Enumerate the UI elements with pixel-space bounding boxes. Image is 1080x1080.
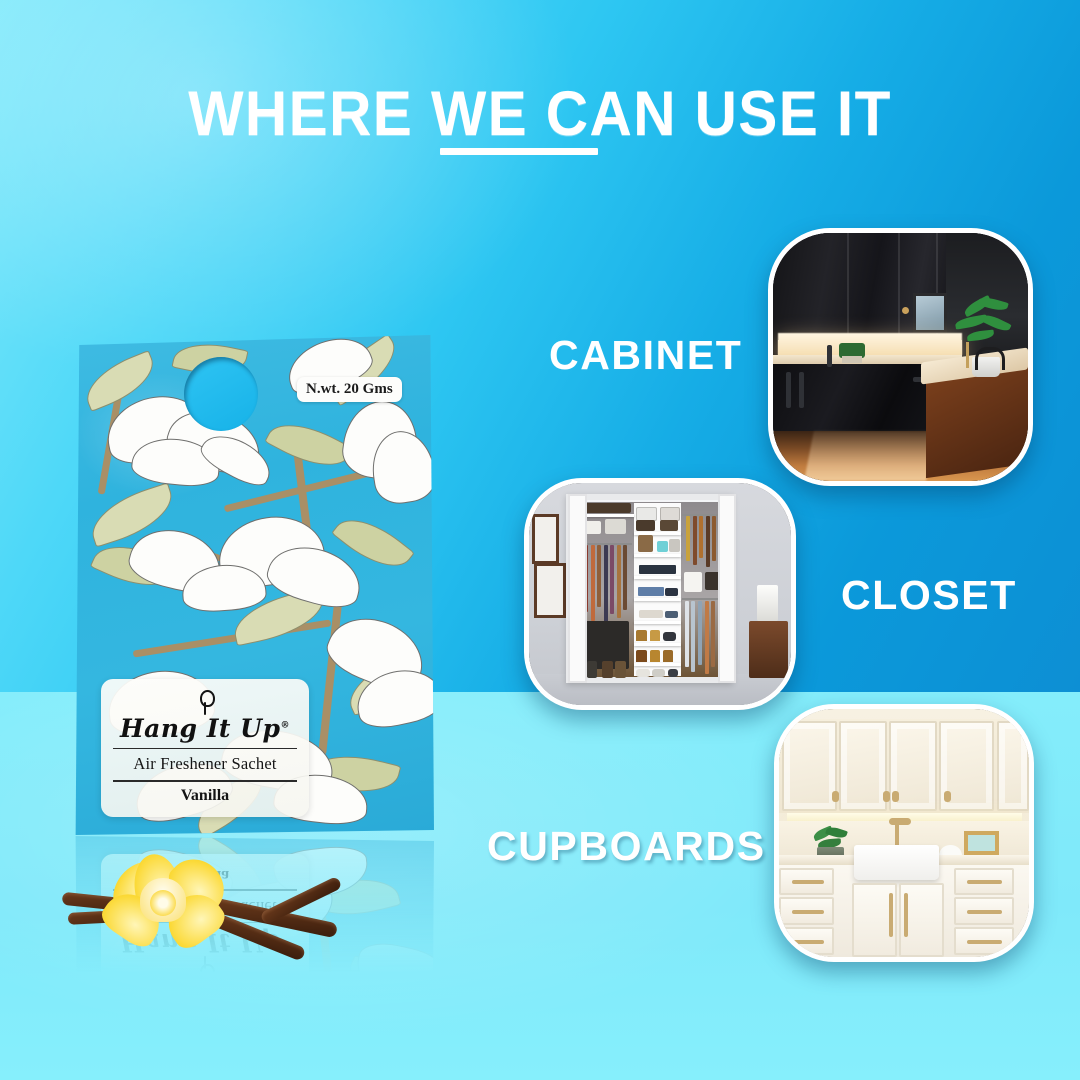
label-divider-top bbox=[113, 748, 297, 749]
title-underline bbox=[440, 148, 598, 155]
closet-scene bbox=[529, 483, 791, 705]
label-cupboards: CUPBOARDS bbox=[487, 823, 766, 870]
product-type: Air Freshener Sachet bbox=[109, 754, 301, 774]
hanger-loop-icon bbox=[198, 690, 213, 715]
package-artwork: N.wt. 20 Gms Hang It Up® Air Freshener S… bbox=[72, 335, 434, 835]
label-closet: CLOSET bbox=[841, 572, 1017, 619]
photo-cupboards bbox=[774, 704, 1034, 962]
vanilla-center bbox=[150, 890, 176, 916]
photo-closet bbox=[524, 478, 796, 710]
brand-name: Hang It Up® bbox=[120, 716, 290, 741]
vanilla-decoration bbox=[62, 852, 352, 982]
cabinet-scene bbox=[773, 233, 1028, 481]
page-title: WHERE WE CAN USE IT bbox=[38, 78, 1042, 150]
package-hang-hole bbox=[184, 357, 258, 431]
photo-cabinet bbox=[768, 228, 1033, 486]
product-label: Hang It Up® Air Freshener Sachet Vanilla bbox=[101, 679, 309, 817]
weight-badge: N.wt. 20 Gms bbox=[297, 377, 402, 402]
cupboards-scene bbox=[779, 709, 1029, 957]
product-package: N.wt. 20 Gms Hang It Up® Air Freshener S… bbox=[72, 335, 434, 835]
label-divider-bottom bbox=[113, 780, 297, 781]
infographic-canvas: WHERE WE CAN USE IT bbox=[0, 0, 1080, 1080]
label-cabinet: CABINET bbox=[549, 332, 742, 379]
product-variant: Vanilla bbox=[109, 787, 301, 805]
